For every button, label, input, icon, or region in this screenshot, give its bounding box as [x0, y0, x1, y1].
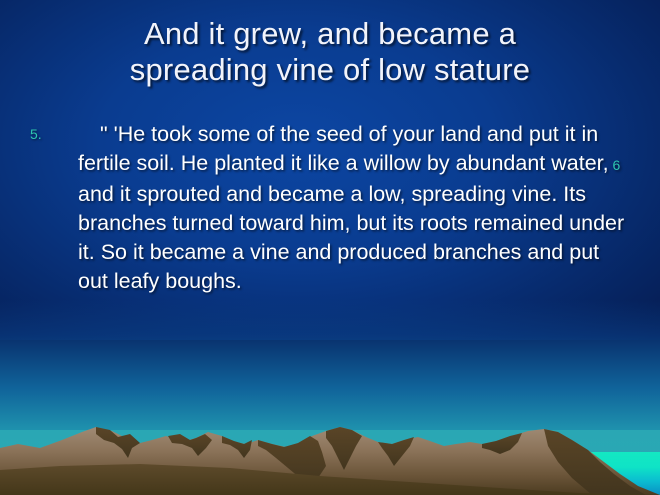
presentation-slide: And it grew, and became a spreading vine… — [0, 0, 660, 495]
inline-verse-number: 6 — [609, 157, 621, 173]
verse-number: 5. — [30, 120, 78, 149]
slide-title: And it grew, and became a spreading vine… — [40, 16, 620, 88]
verse-text-segment-2: and it sprouted and became a low, spread… — [78, 182, 624, 293]
verse-text-segment-1: " 'He took some of the seed of your land… — [78, 122, 609, 175]
slide-body: 5. " 'He took some of the seed of your l… — [30, 120, 630, 296]
verse-text: " 'He took some of the seed of your land… — [78, 120, 630, 296]
verse-row: 5. " 'He took some of the seed of your l… — [30, 120, 630, 296]
